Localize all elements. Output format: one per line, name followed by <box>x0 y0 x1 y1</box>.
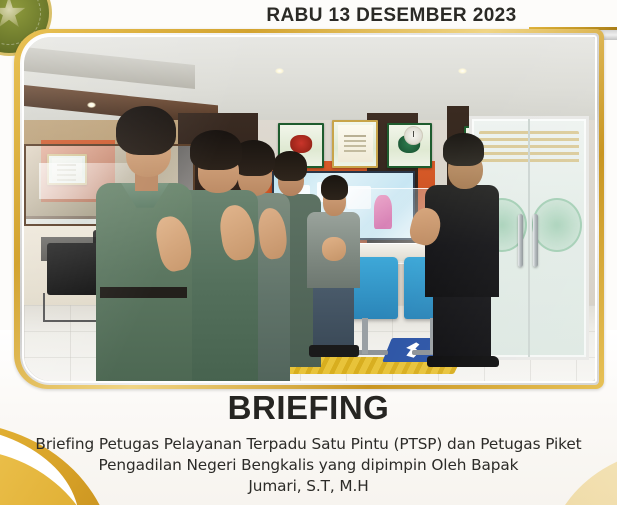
person-hands <box>322 237 346 261</box>
caption-line-3: Jumari, S.T, M.H <box>14 476 603 497</box>
ceiling-downlight <box>458 68 467 74</box>
caption-block: BRIEFING Briefing Petugas Pelayanan Terp… <box>0 391 617 497</box>
leader-jumari <box>424 133 504 367</box>
caption-line-2: Pengadilan Negeri Bengkalis yang dipimpi… <box>14 455 603 476</box>
poster-root: RABU 13 DESEMBER 2023 <box>0 0 617 505</box>
person-legs <box>313 285 354 347</box>
door-handle-right[interactable] <box>533 214 538 266</box>
person-legs <box>433 292 491 358</box>
header-bar: RABU 13 DESEMBER 2023 <box>0 2 617 30</box>
header-date: RABU 13 DESEMBER 2023 <box>266 5 516 27</box>
person-belt <box>100 287 187 298</box>
staff-member-front <box>87 106 201 381</box>
frame-artwork <box>334 122 376 166</box>
person-torso <box>96 183 192 381</box>
caption-title: BRIEFING <box>14 391 603 425</box>
caption-body: Briefing Petugas Pelayanan Terpadu Satu … <box>14 434 603 497</box>
door-handle-left[interactable] <box>518 214 523 266</box>
person-shoes <box>309 345 359 357</box>
presenter-staff <box>304 175 364 347</box>
certificate-document <box>338 125 373 162</box>
person-torso <box>425 185 499 297</box>
person-hair <box>321 175 349 201</box>
caption-line-1: Briefing Petugas Pelayanan Terpadu Satu … <box>14 434 603 455</box>
person-hair <box>116 106 175 156</box>
person-shoes <box>427 356 499 368</box>
door-etched-logo-right <box>532 198 582 252</box>
briefing-photo <box>24 37 595 381</box>
person-hair <box>443 133 485 166</box>
certificate-frame-center <box>332 120 378 168</box>
